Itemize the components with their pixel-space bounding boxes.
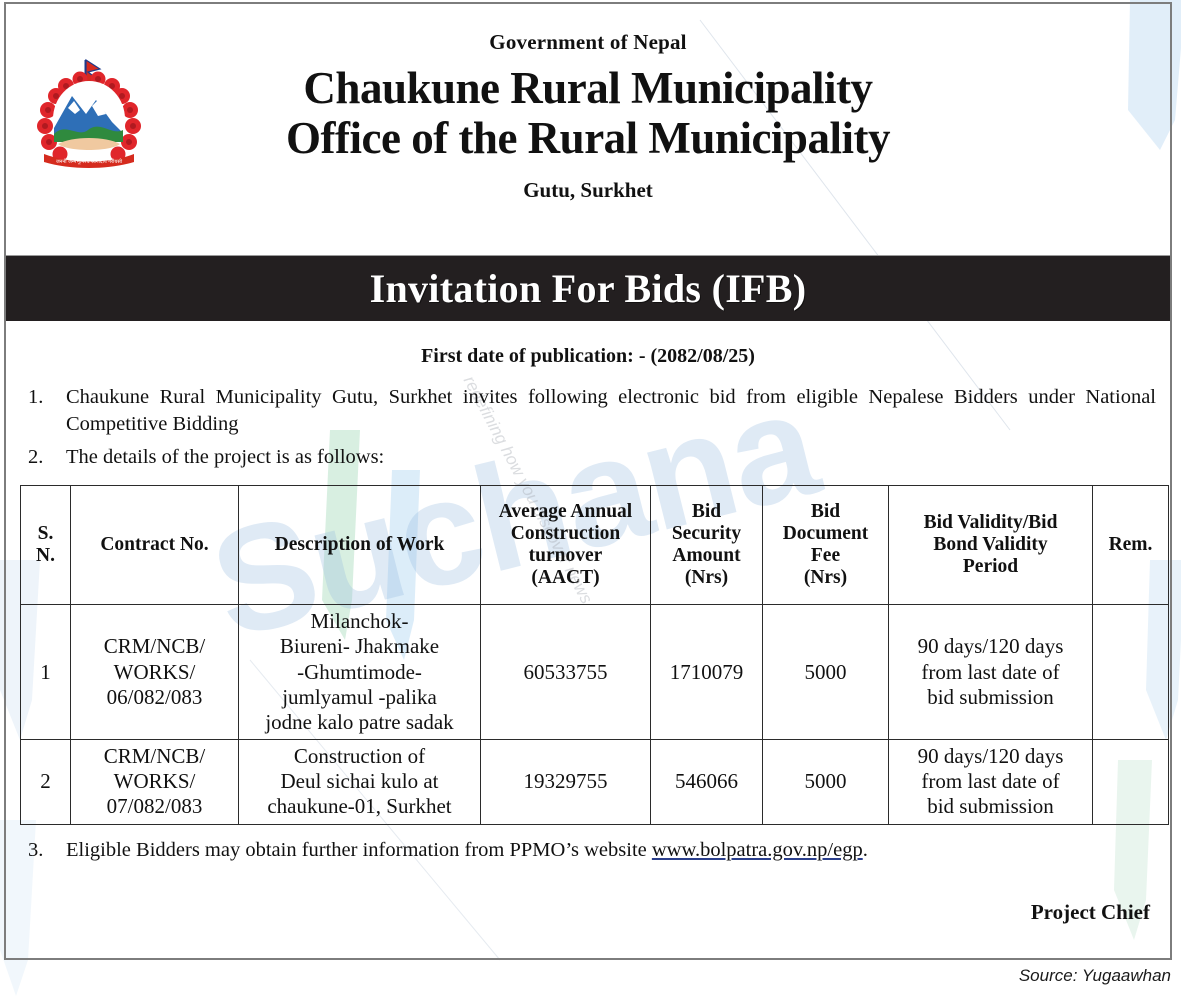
cell-contract-no: CRM/NCB/ WORKS/ 07/082/083 [71, 740, 239, 825]
clause-item-3: 3. Eligible Bidders may obtain further i… [20, 837, 1156, 864]
validity-line2: from last date of [893, 660, 1088, 685]
description-line2: Biureni- Jhakmake [243, 634, 476, 659]
contract-no-line3: 06/082/083 [75, 685, 234, 710]
header-aact: Average Annual Construction turnover (AA… [481, 486, 651, 605]
office-address: Gutu, Surkhet [6, 178, 1170, 203]
cell-bid-validity: 90 days/120 days from last date of bid s… [889, 740, 1093, 825]
cell-sn: 1 [21, 605, 71, 740]
validity-line1: 90 days/120 days [893, 634, 1088, 659]
header-fee-line4: (Nrs) [767, 567, 884, 589]
cell-aact: 60533755 [481, 605, 651, 740]
description-line2: Deul sichai kulo at [243, 769, 476, 794]
description-line1: Milanchok- [243, 609, 476, 634]
ifb-banner: Invitation For Bids (IFB) [6, 256, 1170, 321]
contract-no-line1: CRM/NCB/ [75, 634, 234, 659]
header-bid-security: Bid Security Amount (Nrs) [651, 486, 763, 605]
banner-title: Invitation For Bids (IFB) [370, 265, 807, 312]
cell-bid-document-fee: 5000 [763, 740, 889, 825]
office-name: Office of the Rural Municipality [6, 113, 1170, 163]
clause-list-continued: 3. Eligible Bidders may obtain further i… [20, 837, 1156, 864]
clause3-text-before: Eligible Bidders may obtain further info… [66, 839, 652, 861]
clause-item-2: 2. The details of the project is as foll… [20, 444, 1156, 471]
header-fee-line3: Fee [767, 545, 884, 567]
clause3-text-after: . [863, 839, 868, 861]
organization-name: Chaukune Rural Municipality [6, 63, 1170, 113]
header-aact-line3: turnover [485, 545, 646, 567]
contract-no-line2: WORKS/ [75, 660, 234, 685]
svg-text:जननी जन्मभूमिश्च स्वर्गादपि गर: जननी जन्मभूमिश्च स्वर्गादपि गरीयसी [56, 158, 123, 165]
nepal-emblem-icon: जननी जन्मभूमिश्च स्वर्गादपि गरीयसी [30, 56, 148, 176]
clause-list: 1. Chaukune Rural Municipality Gutu, Sur… [20, 384, 1156, 471]
header-security-line4: (Nrs) [655, 567, 758, 589]
header-fee-line2: Document [767, 523, 884, 545]
header-validity-line2: Bond Validity [893, 534, 1088, 556]
header-remarks: Rem. [1093, 486, 1169, 605]
header-security-line2: Security [655, 523, 758, 545]
validity-line3: bid submission [893, 794, 1088, 819]
cell-description: Milanchok- Biureni- Jhakmake -Ghumtimode… [239, 605, 481, 740]
validity-line1: 90 days/120 days [893, 744, 1088, 769]
header-validity-line1: Bid Validity/Bid [893, 512, 1088, 534]
clause-text: The details of the project is as follows… [66, 446, 384, 468]
header-remarks-line1: Rem. [1097, 534, 1164, 556]
letterhead: जननी जन्मभूमिश्च स्वर्गादपि गरीयसी Gover… [6, 4, 1170, 256]
contract-no-line2: WORKS/ [75, 769, 234, 794]
cell-description: Construction of Deul sichai kulo at chau… [239, 740, 481, 825]
header-fee-line1: Bid [767, 501, 884, 523]
description-line1: Construction of [243, 744, 476, 769]
header-sn-line2: N. [25, 545, 66, 567]
document-page: Suchana redefining how you discover news [0, 0, 1181, 996]
ppmo-website-link[interactable]: www.bolpatra.gov.np/egp [652, 839, 863, 861]
table-header-row: S. N. Contract No. Description of Work A… [21, 486, 1169, 605]
table-row: 1 CRM/NCB/ WORKS/ 06/082/083 Milanchok- … [21, 605, 1169, 740]
government-line: Government of Nepal [6, 30, 1170, 55]
cell-bid-document-fee: 5000 [763, 605, 889, 740]
header-bid-validity: Bid Validity/Bid Bond Validity Period [889, 486, 1093, 605]
description-line5: jodne kalo patre sadak [243, 710, 476, 735]
description-line3: -Ghumtimode- [243, 660, 476, 685]
clause-text: Chaukune Rural Municipality Gutu, Surkhe… [66, 384, 1156, 438]
cell-aact: 19329755 [481, 740, 651, 825]
document-sheet: जननी जन्मभूमिश्च स्वर्गादपि गरीयसी Gover… [4, 2, 1172, 960]
description-line4: jumlyamul -palika [243, 685, 476, 710]
clause-number: 2. [28, 444, 43, 471]
cell-bid-validity: 90 days/120 days from last date of bid s… [889, 605, 1093, 740]
clause-item-1: 1. Chaukune Rural Municipality Gutu, Sur… [20, 384, 1156, 438]
source-credit: Source: Yugaawhan [1019, 966, 1171, 986]
header-aact-line1: Average Annual [485, 501, 646, 523]
header-bid-document-fee: Bid Document Fee (Nrs) [763, 486, 889, 605]
header-contract-no-line1: Contract No. [75, 534, 234, 556]
publication-date: First date of publication: - (2082/08/25… [20, 345, 1156, 368]
header-aact-line2: Construction [485, 523, 646, 545]
header-sn-line1: S. [25, 523, 66, 545]
header-contract-no: Contract No. [71, 486, 239, 605]
header-security-line1: Bid [655, 501, 758, 523]
bids-table: S. N. Contract No. Description of Work A… [20, 485, 1169, 825]
header-validity-line3: Period [893, 556, 1088, 578]
header-aact-line4: (AACT) [485, 567, 646, 589]
description-line3: chaukune-01, Surkhet [243, 794, 476, 819]
header-sn: S. N. [21, 486, 71, 605]
cell-sn: 2 [21, 740, 71, 825]
document-body: First date of publication: - (2082/08/25… [6, 345, 1170, 925]
clause-number: 1. [28, 384, 43, 411]
header-description: Description of Work [239, 486, 481, 605]
cell-bid-security: 1710079 [651, 605, 763, 740]
clause-number: 3. [28, 837, 43, 864]
cell-bid-security: 546066 [651, 740, 763, 825]
table-row: 2 CRM/NCB/ WORKS/ 07/082/083 Constructio… [21, 740, 1169, 825]
validity-line2: from last date of [893, 769, 1088, 794]
header-description-line1: Description of Work [243, 534, 476, 556]
validity-line3: bid submission [893, 685, 1088, 710]
cell-remarks [1093, 605, 1169, 740]
contract-no-line3: 07/082/083 [75, 794, 234, 819]
signature-title: Project Chief [20, 900, 1156, 925]
cell-remarks [1093, 740, 1169, 825]
header-security-line3: Amount [655, 545, 758, 567]
cell-contract-no: CRM/NCB/ WORKS/ 06/082/083 [71, 605, 239, 740]
contract-no-line1: CRM/NCB/ [75, 744, 234, 769]
